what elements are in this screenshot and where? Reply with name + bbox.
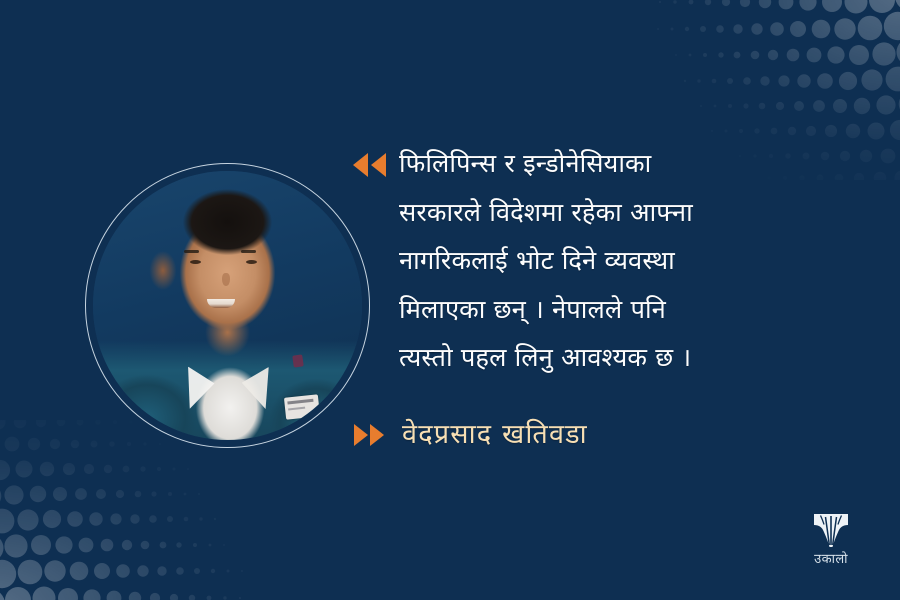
portrait-frame (85, 163, 370, 448)
brand-logo: उकालो (800, 511, 862, 568)
ukalo-arch-logo-icon (811, 511, 851, 549)
eye-right-detail (246, 260, 257, 264)
eyebrow-right-detail (241, 250, 256, 253)
portrait-photo (93, 171, 362, 440)
attribution-name: वेदप्रसाद खतिवडा (402, 418, 588, 452)
name-badge (284, 395, 320, 420)
name-badge-line (287, 399, 313, 405)
halftone-dot-pattern-bottom-left (0, 420, 290, 600)
nose-detail (222, 273, 230, 286)
eye-left-detail (190, 260, 201, 264)
name-badge-line (288, 407, 305, 411)
mouth-detail (207, 299, 235, 308)
attribution: वेदप्रसाद खतिवडा (352, 418, 588, 452)
shirt-collar-right (239, 367, 278, 413)
brand-name: उकालो (814, 552, 848, 568)
eyebrow-left-detail (184, 250, 199, 253)
double-chevron-left-icon (352, 152, 388, 178)
portrait-clip (93, 171, 362, 440)
quote-text: फिलिपिन्स र इन्डोनेसियाका सरकारले विदेशम… (399, 140, 852, 383)
quote-block: फिलिपिन्स र इन्डोनेसियाका सरकारले विदेशम… (352, 140, 852, 383)
quote-card: फिलिपिन्स र इन्डोनेसियाका सरकारले विदेशम… (0, 0, 900, 600)
double-chevron-right-icon (352, 423, 386, 447)
shirt-collar-left (177, 367, 217, 414)
badge-lanyard (292, 355, 304, 368)
